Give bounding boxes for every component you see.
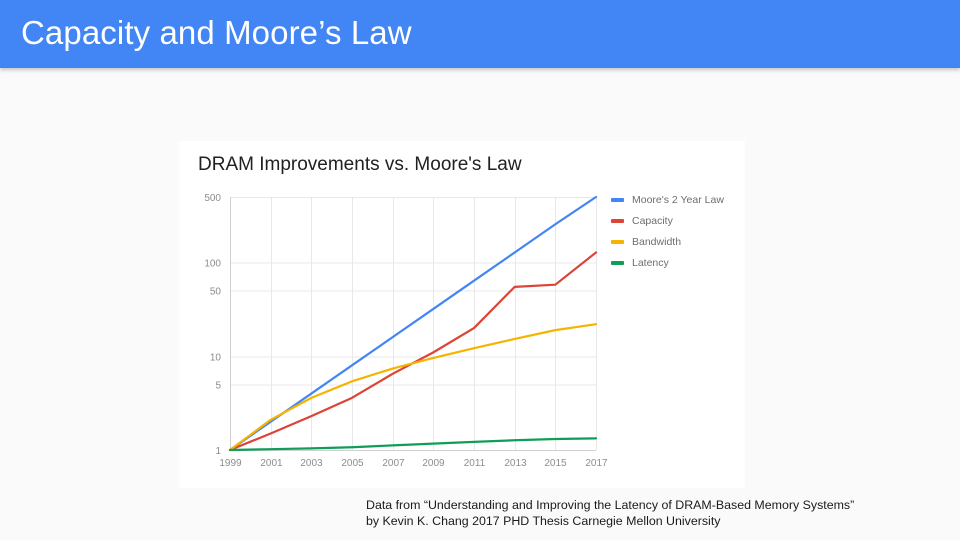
legend-item[interactable]: Moore's 2 Year Law bbox=[611, 189, 741, 210]
x-axis-tick-label: 2009 bbox=[422, 458, 445, 469]
source-caption: Data from “Understanding and Improving t… bbox=[366, 497, 956, 529]
x-axis-tick-label: 1999 bbox=[219, 458, 242, 469]
legend-item-label: Capacity bbox=[632, 215, 673, 227]
y-axis-tick-label: 1 bbox=[215, 446, 221, 457]
legend-item[interactable]: Latency bbox=[611, 252, 741, 273]
chart-series-line bbox=[230, 438, 596, 450]
legend-item-label: Latency bbox=[632, 257, 669, 269]
legend-item-label: Moore's 2 Year Law bbox=[632, 194, 724, 206]
chart-card: DRAM Improvements vs. Moore's Law 500100… bbox=[179, 141, 745, 488]
x-axis-tick-label: 2007 bbox=[382, 458, 405, 469]
x-axis-tick-label: 2005 bbox=[341, 458, 364, 469]
y-axis-tick-label: 100 bbox=[204, 259, 221, 270]
y-axis-tick-label: 500 bbox=[204, 193, 221, 204]
legend-swatch-icon bbox=[611, 198, 624, 202]
legend-swatch-icon bbox=[611, 240, 624, 244]
legend-swatch-icon bbox=[611, 219, 624, 223]
y-axis-tick-label: 5 bbox=[215, 380, 221, 391]
x-axis-tick-label: 2001 bbox=[260, 458, 283, 469]
chart-legend: Moore's 2 Year LawCapacityBandwidthLaten… bbox=[611, 189, 741, 273]
x-axis-tick-label: 2013 bbox=[504, 458, 527, 469]
x-axis-tick-label: 2011 bbox=[464, 458, 486, 469]
y-axis-tick-label: 50 bbox=[210, 287, 222, 298]
chart-series-line bbox=[230, 324, 596, 450]
caption-line-1: Data from “Understanding and Improving t… bbox=[366, 497, 956, 513]
y-axis-tick-label: 10 bbox=[210, 352, 222, 363]
x-axis-tick-label: 2003 bbox=[300, 458, 323, 469]
legend-item[interactable]: Bandwidth bbox=[611, 231, 741, 252]
x-axis-tick-label: 2017 bbox=[585, 458, 608, 469]
legend-item-label: Bandwidth bbox=[632, 236, 681, 248]
caption-line-2: by Kevin K. Chang 2017 PHD Thesis Carneg… bbox=[366, 513, 956, 529]
x-axis-tick-label: 2015 bbox=[544, 458, 567, 469]
legend-item[interactable]: Capacity bbox=[611, 210, 741, 231]
legend-swatch-icon bbox=[611, 261, 624, 265]
slide-title-bar: Capacity and Moore’s Law bbox=[0, 0, 960, 68]
page-title: Capacity and Moore’s Law bbox=[21, 14, 412, 52]
chart-series-line bbox=[230, 252, 596, 450]
